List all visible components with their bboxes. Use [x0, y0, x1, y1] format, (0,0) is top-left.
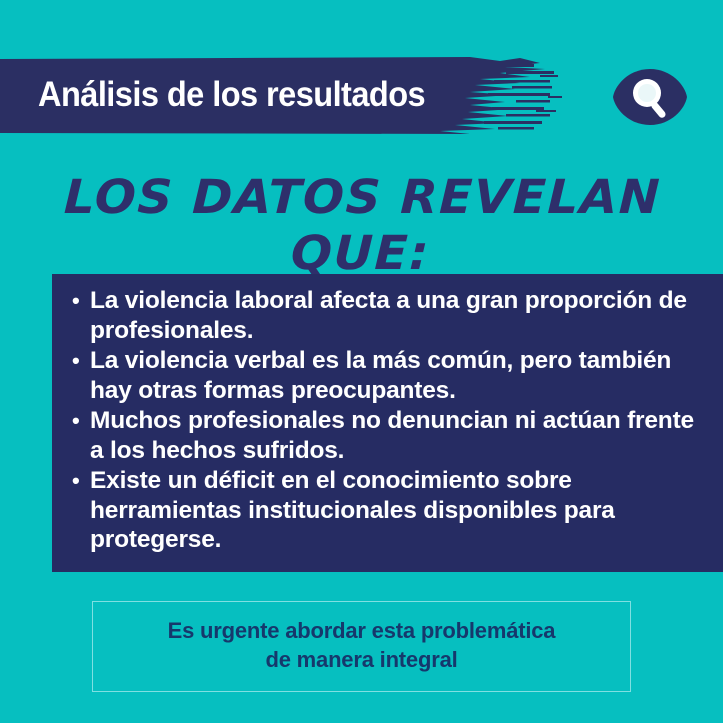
findings-panel: La violencia laboral afecta a una gran p… — [52, 274, 723, 572]
list-item: La violencia verbal es la más común, per… — [70, 346, 709, 405]
list-item: Existe un déficit en el conocimiento sob… — [70, 466, 709, 555]
list-item: La violencia laboral afecta a una gran p… — [70, 286, 709, 345]
page-title: Análisis de los resultados — [38, 72, 475, 118]
infographic-slide: Análisis de los resultados LOS DATOS REV… — [0, 0, 723, 723]
eye-magnifier-icon — [611, 67, 689, 127]
list-item: Muchos profesionales no denuncian ni act… — [70, 406, 709, 465]
callout-box: Es urgente abordar esta problemática de … — [92, 601, 631, 692]
callout-text: Es urgente abordar esta problemática de … — [93, 616, 630, 674]
headline-text: LOS DATOS REVELAN QUE: — [0, 170, 723, 282]
findings-list: La violencia laboral afecta a una gran p… — [70, 286, 709, 556]
